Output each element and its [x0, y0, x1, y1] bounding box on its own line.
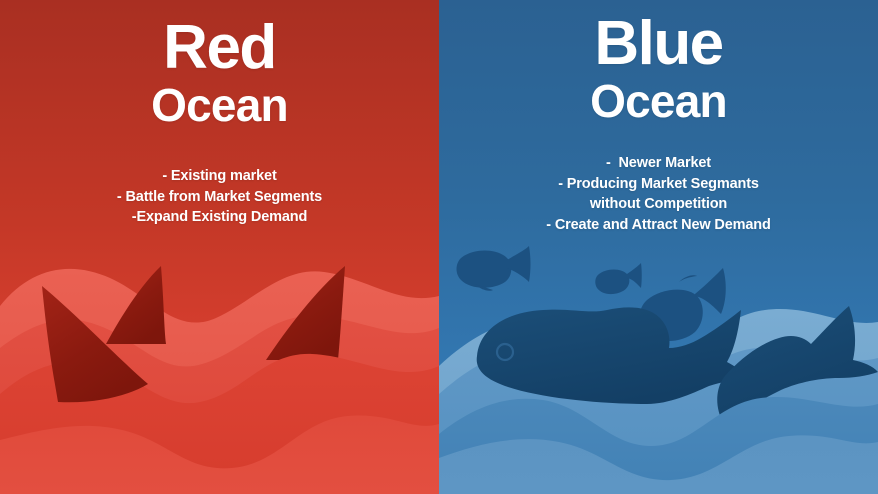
blue-ocean-bullet-2-cont: without Competition — [439, 194, 878, 215]
blue-ocean-bullet-3: - Create and Attract New Demand — [439, 215, 878, 236]
blue-ocean-title-block: Blue Ocean — [439, 14, 878, 125]
fish-small-left — [457, 246, 531, 291]
slide-canvas: Red Ocean - Existing market - Battle fro… — [0, 0, 878, 494]
red-ocean-bullet-3: -Expand Existing Demand — [0, 207, 439, 228]
red-ocean-illustration — [0, 244, 439, 494]
red-ocean-title-block: Red Ocean — [0, 18, 439, 129]
red-ocean-bullet-1: - Existing market — [0, 166, 439, 187]
blue-ocean-title-sub: Ocean — [439, 77, 878, 125]
blue-ocean-bullet-list: - Newer Market - Producing Market Segman… — [439, 153, 878, 235]
red-ocean-title-main: Red — [0, 18, 439, 79]
blue-ocean-bullet-2: - Producing Market Segmants — [439, 174, 878, 195]
red-ocean-bullet-2: - Battle from Market Segments — [0, 187, 439, 208]
blue-ocean-bullet-1: - Newer Market — [439, 153, 878, 174]
panel-blue-ocean: Blue Ocean - Newer Market - Producing Ma… — [439, 0, 878, 494]
panel-red-ocean: Red Ocean - Existing market - Battle fro… — [0, 0, 439, 494]
blue-ocean-illustration — [439, 244, 878, 494]
red-ocean-bullet-list: - Existing market - Battle from Market S… — [0, 166, 439, 228]
red-ocean-title-sub: Ocean — [0, 81, 439, 129]
blue-ocean-title-main: Blue — [439, 14, 878, 75]
fish-tiny-center — [595, 263, 641, 294]
